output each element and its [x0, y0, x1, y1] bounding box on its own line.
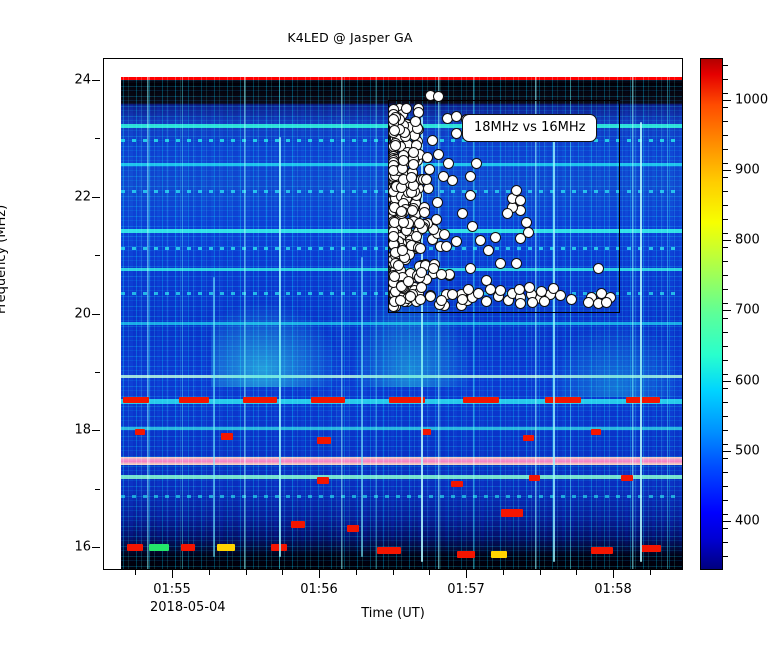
colorbar-tick-label: 600 — [735, 373, 760, 388]
colorbar-tick-minor — [723, 261, 728, 262]
x-tick-label: 01:56 — [300, 582, 337, 597]
colorbar-tick-minor — [723, 205, 728, 206]
colorbar-tick-minor — [723, 65, 728, 66]
scatter-point — [395, 295, 406, 306]
colorbar-tick-minor — [723, 233, 728, 234]
colorbar-tick-minor — [723, 275, 728, 276]
scatter-series — [0, 0, 783, 656]
colorbar-tick-minor — [723, 149, 728, 150]
y-tick — [92, 430, 100, 431]
scatter-point — [415, 294, 426, 305]
scatter-point — [425, 291, 436, 302]
y-tick-label: 20 — [74, 306, 91, 321]
scatter-point — [465, 263, 476, 274]
colorbar-tick-minor — [723, 191, 728, 192]
colorbar-tick-minor — [723, 163, 728, 164]
colorbar[interactable] — [700, 58, 723, 570]
scatter-point — [555, 290, 566, 301]
scatter-point — [521, 217, 532, 228]
x-tick-minor — [209, 570, 210, 575]
y-tick — [92, 547, 100, 548]
scatter-point — [419, 207, 430, 218]
scatter-point — [495, 285, 506, 296]
scatter-point — [405, 291, 416, 302]
x-tick-minor — [282, 570, 283, 575]
colorbar-tick-minor — [723, 135, 728, 136]
scatter-point — [401, 103, 412, 114]
y-tick-label: 16 — [74, 540, 91, 555]
scatter-point — [495, 258, 506, 269]
colorbar-tick — [723, 310, 731, 311]
x-tick-minor — [393, 570, 394, 575]
x-tick-minor — [429, 570, 430, 575]
colorbar-tick-minor — [723, 177, 728, 178]
colorbar-tick-minor — [723, 458, 728, 459]
colorbar-tick-minor — [723, 374, 728, 375]
scatter-point — [408, 159, 419, 170]
scatter-point — [432, 197, 443, 208]
scatter-point — [438, 171, 449, 182]
x-tick-minor — [135, 570, 136, 575]
x-tick — [319, 570, 320, 578]
scatter-point — [502, 208, 513, 219]
scatter-point — [566, 294, 577, 305]
scatter-point — [514, 284, 525, 295]
scatter-point — [433, 91, 444, 102]
figure-canvas: K4LED @ Jasper GA Frequency (MHz) Time (… — [0, 0, 783, 656]
scatter-point — [422, 152, 433, 163]
scatter-point — [465, 190, 476, 201]
x-tick-minor — [503, 570, 504, 575]
scatter-point — [396, 206, 407, 217]
scatter-point — [447, 289, 458, 300]
x-tick-label: 01:58 — [594, 582, 631, 597]
colorbar-tick-minor — [723, 121, 728, 122]
y-tick — [92, 197, 100, 198]
scatter-point — [451, 111, 462, 122]
colorbar-tick-minor — [723, 388, 728, 389]
y-tick-minor — [95, 372, 100, 373]
x-tick — [466, 570, 467, 578]
x-tick-minor — [650, 570, 651, 575]
colorbar-tick — [723, 170, 731, 171]
x-tick-minor — [246, 570, 247, 575]
y-tick-minor — [95, 138, 100, 139]
scatter-point — [511, 258, 522, 269]
scatter-point — [427, 135, 438, 146]
scatter-point — [511, 185, 522, 196]
x-tick-minor — [540, 570, 541, 575]
y-tick-minor — [95, 489, 100, 490]
scatter-point — [583, 297, 594, 308]
x-tick — [613, 570, 614, 578]
colorbar-tick — [723, 521, 731, 522]
y-tick-label: 22 — [74, 189, 91, 204]
y-tick — [92, 80, 100, 81]
scatter-point — [457, 294, 468, 305]
colorbar-tick-label: 1000 — [735, 93, 768, 108]
y-tick-label: 24 — [74, 73, 91, 88]
colorbar-tick-minor — [723, 430, 728, 431]
scatter-point — [467, 221, 478, 232]
scatter-point — [536, 286, 547, 297]
scatter-point — [471, 158, 482, 169]
scatter-point — [433, 149, 444, 160]
scatter-point — [485, 284, 496, 295]
colorbar-tick-minor — [723, 444, 728, 445]
scatter-point — [451, 236, 462, 247]
y-tick-label: 18 — [74, 423, 91, 438]
colorbar-tick-minor — [723, 219, 728, 220]
x-tick-label: 01:57 — [447, 582, 484, 597]
scatter-point — [441, 241, 452, 252]
scatter-point — [465, 171, 476, 182]
colorbar-tick-minor — [723, 93, 728, 94]
scatter-point — [524, 282, 535, 293]
scatter-point — [388, 114, 399, 125]
scatter-point — [463, 284, 474, 295]
colorbar-tick — [723, 451, 731, 452]
scatter-point — [439, 229, 450, 240]
colorbar-tick-minor — [723, 332, 728, 333]
colorbar-tick — [723, 100, 731, 101]
scatter-point — [415, 243, 426, 254]
scatter-point — [490, 232, 501, 243]
scatter-point — [593, 263, 604, 274]
colorbar-tick-minor — [723, 360, 728, 361]
colorbar-tick-label: 900 — [735, 163, 760, 178]
colorbar-tick-minor — [723, 528, 728, 529]
scatter-point — [431, 214, 442, 225]
colorbar-tick — [723, 381, 731, 382]
scatter-point — [436, 295, 447, 306]
colorbar-tick-minor — [723, 303, 728, 304]
scatter-point — [483, 245, 494, 256]
scatter-point — [410, 116, 421, 127]
colorbar-tick-minor — [723, 346, 728, 347]
colorbar-tick-minor — [723, 416, 728, 417]
colorbar-tick-minor — [723, 289, 728, 290]
colorbar-tick-minor — [723, 402, 728, 403]
scatter-point — [523, 227, 534, 238]
colorbar-tick-minor — [723, 472, 728, 473]
scatter-point — [475, 235, 486, 246]
x-tick-minor — [576, 570, 577, 575]
scatter-point — [416, 282, 427, 293]
colorbar-tick-minor — [723, 556, 728, 557]
scatter-point — [388, 231, 399, 242]
colorbar-tick-minor — [723, 79, 728, 80]
scatter-point — [416, 267, 427, 278]
scatter-point — [403, 276, 414, 287]
scatter-point — [451, 128, 462, 139]
colorbar-tick — [723, 240, 731, 241]
colorbar-tick-label: 400 — [735, 513, 760, 528]
scatter-point — [457, 208, 468, 219]
colorbar-tick-minor — [723, 318, 728, 319]
scatter-point — [397, 245, 408, 256]
scatter-point — [539, 296, 550, 307]
scatter-point — [436, 269, 447, 280]
colorbar-tick-minor — [723, 486, 728, 487]
colorbar-tick-minor — [723, 542, 728, 543]
scatter-point — [515, 298, 526, 309]
x-tick-minor — [356, 570, 357, 575]
scatter-point — [443, 158, 454, 169]
colorbar-tick-minor — [723, 107, 728, 108]
scatter-point — [407, 205, 418, 216]
x-tick-label: 01:55 — [153, 582, 190, 597]
scatter-point — [473, 288, 484, 299]
colorbar-tick-minor — [723, 500, 728, 501]
y-tick — [92, 314, 100, 315]
scatter-point — [515, 195, 526, 206]
colorbar-tick-minor — [723, 247, 728, 248]
scatter-point — [601, 297, 612, 308]
annotation-label: 18MHz vs 16MHz — [462, 114, 597, 142]
scatter-point — [423, 183, 434, 194]
y-tick-minor — [95, 255, 100, 256]
colorbar-tick-minor — [723, 514, 728, 515]
colorbar-tick-label: 700 — [735, 303, 760, 318]
scatter-point — [527, 297, 538, 308]
colorbar-tick-label: 500 — [735, 443, 760, 458]
colorbar-tick-label: 800 — [735, 233, 760, 248]
x-tick — [172, 570, 173, 578]
